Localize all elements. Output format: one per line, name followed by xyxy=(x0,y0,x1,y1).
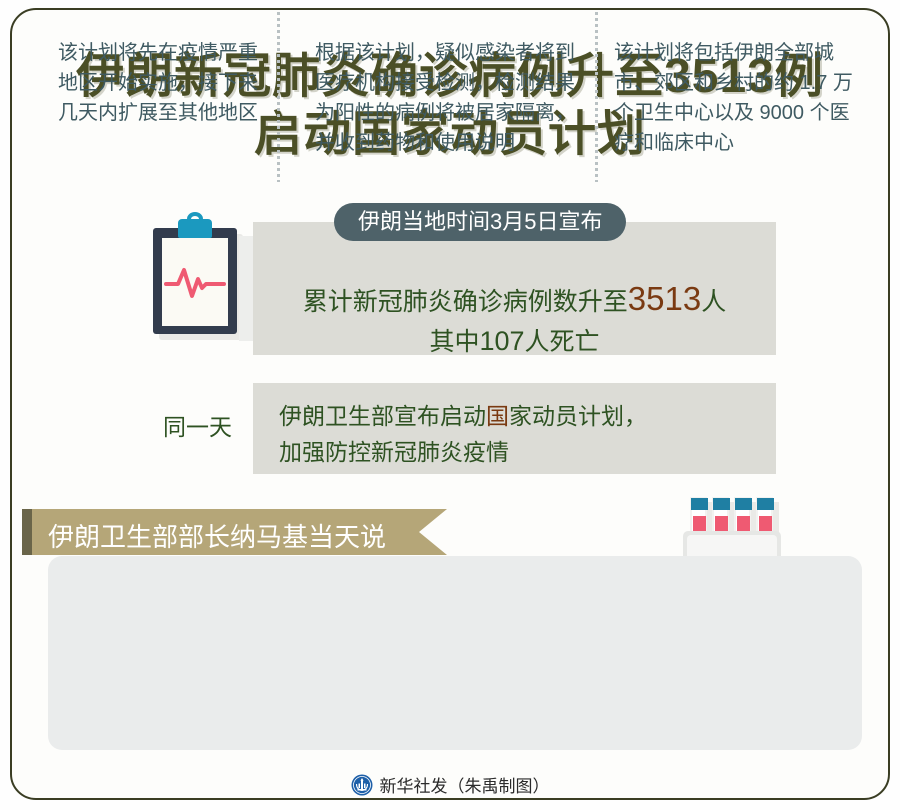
block2-line1-suffix: 家动员计划， xyxy=(509,403,647,429)
clipboard-clip xyxy=(178,219,212,238)
block1-confirmed-count: 3513 xyxy=(628,280,701,317)
infographic-page: 伊朗新冠肺炎确诊病例升至3513例 启动国家动员计划 累计新冠肺炎确诊病例数升至… xyxy=(0,0,900,810)
heartbeat-line-icon xyxy=(162,262,228,302)
test-tube-cap xyxy=(757,498,774,510)
block2-line1-highlight: 国 xyxy=(486,403,509,429)
test-tube-cap xyxy=(735,498,752,510)
column-divider-2 xyxy=(595,12,598,182)
block2-line-1: 伊朗卫生部宣布启动国家动员计划， xyxy=(279,397,647,431)
ribbon-left-tab xyxy=(22,509,32,555)
block1-line1-prefix: 累计新冠肺炎确诊病例数升至 xyxy=(303,288,628,316)
block2-line1-prefix: 伊朗卫生部宣布启动 xyxy=(279,403,486,429)
block1-left-strip xyxy=(239,236,253,341)
detail-column-2: 根据该计划，疑似感染者将到医疗机构接受检测，检测结果为阳性的病例将被居家隔离，并… xyxy=(315,38,577,158)
block1-line1-suffix: 人 xyxy=(701,288,726,316)
clipboard-heartbeat-icon xyxy=(153,228,237,334)
test-tubes-icon xyxy=(686,497,778,563)
detail-column-1: 该计划将先在疫情严重地区开始实施，接下来几天内扩展至其他地区 xyxy=(58,38,258,128)
test-tube-cap xyxy=(691,498,708,510)
block2-side-label: 同一天 xyxy=(163,408,232,442)
block1-line2-prefix: 其中 xyxy=(429,328,479,356)
minister-quote-label: 伊朗卫生部部长纳马基当天说 xyxy=(48,517,386,554)
detail-column-3: 该计划将包括伊朗全部城市、郊区和乡村的约 1.7 万个卫生中心以及 9000 个… xyxy=(614,38,854,158)
block1-line2-suffix: 人死亡 xyxy=(525,328,600,356)
block1-line-1: 累计新冠肺炎确诊病例数升至3513人 xyxy=(253,280,776,318)
date-announcement-badge: 伊朗当地时间3月5日宣布 xyxy=(334,203,626,241)
test-tube-cap xyxy=(713,498,730,510)
block1-panel: 累计新冠肺炎确诊病例数升至3513人 其中107人死亡 xyxy=(253,222,776,355)
xinhua-logo-icon xyxy=(351,774,373,796)
block2-panel: 伊朗卫生部宣布启动国家动员计划， 加强防控新冠肺炎疫情 xyxy=(253,383,776,474)
footer: 新华社发（朱禹制图） xyxy=(0,772,900,797)
column-divider-1 xyxy=(277,12,280,182)
block1-line-2: 其中107人死亡 xyxy=(253,322,776,358)
details-panel xyxy=(48,556,862,750)
footer-credit: 新华社发（朱禹制图） xyxy=(380,772,550,797)
block1-death-count: 107 xyxy=(479,326,524,356)
block2-line-2: 加强防控新冠肺炎疫情 xyxy=(279,433,509,467)
